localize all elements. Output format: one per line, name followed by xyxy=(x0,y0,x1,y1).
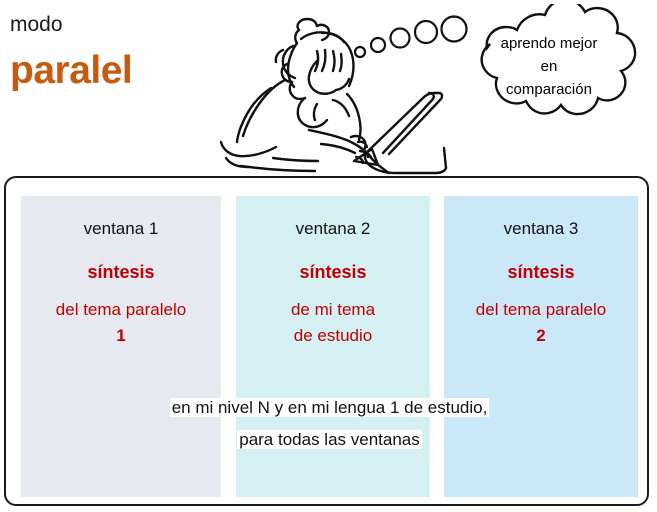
description-3: del tema paralelo 2 xyxy=(444,297,638,349)
synthesis-label-3: síntesis xyxy=(444,261,638,283)
window-label-1: ventana 1 xyxy=(21,218,221,240)
window-column-1[interactable]: ventana 1 síntesis del tema paralelo 1 xyxy=(21,196,221,497)
description-3-line2: 2 xyxy=(536,326,545,345)
header-area: modo paralel xyxy=(0,0,657,176)
thought-line-3: comparación xyxy=(465,78,633,101)
thought-line-1: aprendo mejor xyxy=(465,32,633,55)
description-3-line1: del tema paralelo xyxy=(476,300,606,319)
description-2: de mi tema de estudio xyxy=(236,297,430,349)
thought-line-2: en xyxy=(465,55,633,78)
description-1-line1: del tema paralelo xyxy=(56,300,186,319)
thought-bubble-text: aprendo mejor en comparación xyxy=(465,32,633,101)
description-2-line1: de mi tema xyxy=(291,300,375,319)
mode-label: modo xyxy=(10,12,210,38)
synthesis-label-1: síntesis xyxy=(21,261,221,283)
window-label-2: ventana 2 xyxy=(236,218,430,240)
window-column-2[interactable]: ventana 2 síntesis de mi tema de estudio xyxy=(236,196,430,497)
description-1: del tema paralelo 1 xyxy=(21,297,221,349)
synthesis-label-2: síntesis xyxy=(236,261,430,283)
description-1-line2: 1 xyxy=(116,326,125,345)
window-columns: ventana 1 síntesis del tema paralelo 1 v… xyxy=(21,196,638,497)
mode-name: paralel xyxy=(10,48,210,94)
window-label-3: ventana 3 xyxy=(444,218,638,240)
window-column-3[interactable]: ventana 3 síntesis del tema paralelo 2 xyxy=(444,196,638,497)
description-2-line2: de estudio xyxy=(294,326,372,345)
title-block: modo paralel xyxy=(10,12,210,94)
